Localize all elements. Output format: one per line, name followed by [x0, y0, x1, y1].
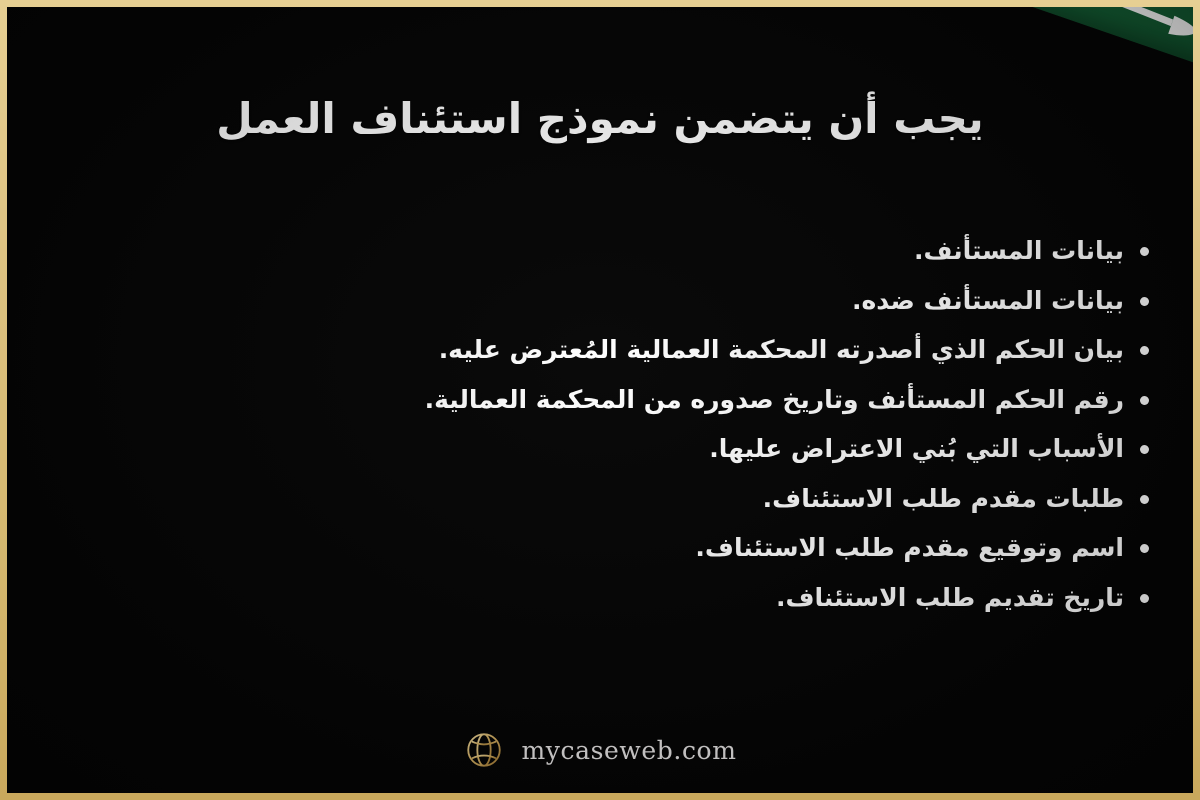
poster: يجب أن يتضمن نموذج استئناف العمل بيانات … — [0, 0, 1200, 800]
list-item-label: اسم وتوقيع مقدم طلب الاستئناف. — [51, 532, 1124, 564]
list-item-label: طلبات مقدم طلب الاستئناف. — [51, 483, 1124, 515]
list-item-label: بيانات المستأنف ضده. — [51, 285, 1124, 317]
saudi-flag-ribbon — [829, 7, 1193, 87]
page-title: يجب أن يتضمن نموذج استئناف العمل — [67, 93, 1133, 146]
list-item: بيانات المستأنف ضده. — [51, 285, 1149, 317]
list-item: رقم الحكم المستأنف وتاريخ صدوره من المحك… — [51, 384, 1149, 416]
list-item-label: بيانات المستأنف. — [51, 235, 1124, 267]
list-item: بيان الحكم الذي أصدرته المحكمة العمالية … — [51, 334, 1149, 366]
flag-green-field — [829, 7, 1193, 87]
list-item: طلبات مقدم طلب الاستئناف. — [51, 483, 1149, 515]
list-item-label: رقم الحكم المستأنف وتاريخ صدوره من المحك… — [51, 384, 1124, 416]
list-item-label: بيان الحكم الذي أصدرته المحكمة العمالية … — [51, 334, 1124, 366]
bullet-dot-icon — [1140, 445, 1149, 454]
footer-brand: mycaseweb.com — [7, 729, 1193, 771]
brand-name-label: mycaseweb.com — [521, 736, 736, 765]
poster-canvas: يجب أن يتضمن نموذج استئناف العمل بيانات … — [7, 7, 1193, 793]
bullet-dot-icon — [1140, 544, 1149, 553]
bullet-dot-icon — [1140, 346, 1149, 355]
flag-sword — [898, 7, 1193, 42]
flag-shahada-art — [829, 7, 1193, 87]
bullet-dot-icon — [1140, 297, 1149, 306]
requirements-list: بيانات المستأنف. بيانات المستأنف ضده. بي… — [51, 235, 1149, 631]
bullet-dot-icon — [1140, 396, 1149, 405]
list-item: الأسباب التي بُني الاعتراض عليها. — [51, 433, 1149, 465]
globe-icon — [463, 729, 505, 771]
bullet-dot-icon — [1140, 495, 1149, 504]
bullet-dot-icon — [1140, 594, 1149, 603]
list-item: بيانات المستأنف. — [51, 235, 1149, 267]
bullet-dot-icon — [1140, 247, 1149, 256]
list-item-label: تاريخ تقديم طلب الاستئناف. — [51, 582, 1124, 614]
list-item: اسم وتوقيع مقدم طلب الاستئناف. — [51, 532, 1149, 564]
list-item: تاريخ تقديم طلب الاستئناف. — [51, 582, 1149, 614]
list-item-label: الأسباب التي بُني الاعتراض عليها. — [51, 433, 1124, 465]
